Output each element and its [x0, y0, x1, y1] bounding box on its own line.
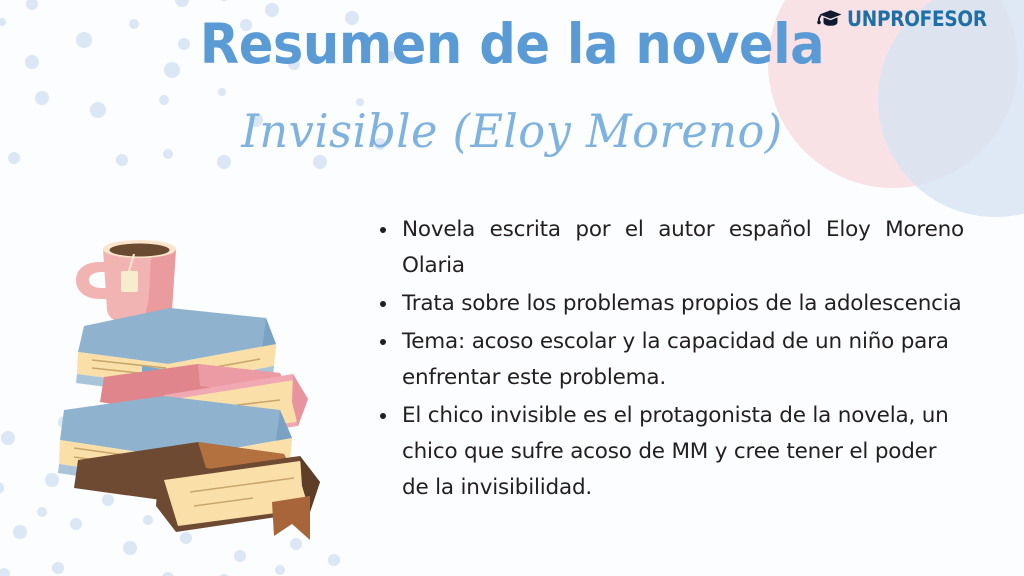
- list-item: Tema: acoso escolar y la capacidad de un…: [372, 324, 964, 396]
- bullet-text: Trata sobre los problemas propios de la …: [402, 291, 962, 316]
- bullet-text: Tema: acoso escolar y la capacidad de un…: [402, 329, 949, 390]
- logo-wordmark: UNPROFESOR: [847, 7, 987, 31]
- stack-of-books-illustration: [48, 214, 338, 544]
- mug-illustration: [76, 240, 176, 322]
- unprofesor-logo[interactable]: UNPROFESOR: [817, 7, 1006, 31]
- list-item: Novela escrita por el autor español Eloy…: [372, 212, 964, 284]
- bullet-text: Novela escrita por el autor español Eloy…: [402, 217, 964, 278]
- bullet-list: Novela escrita por el autor español Eloy…: [372, 212, 964, 508]
- bullet-text: El chico invisible es el protagonista de…: [402, 403, 949, 500]
- list-item: El chico invisible es el protagonista de…: [372, 398, 964, 506]
- graduation-cap-icon: [817, 9, 843, 29]
- list-item: Trata sobre los problemas propios de la …: [372, 286, 964, 322]
- page-subtitle: Invisible (Eloy Moreno): [15, 108, 1008, 154]
- book-bottom: [74, 442, 320, 540]
- slide-canvas: UNPROFESOR Resumen de la novela Invisibl…: [0, 0, 1024, 576]
